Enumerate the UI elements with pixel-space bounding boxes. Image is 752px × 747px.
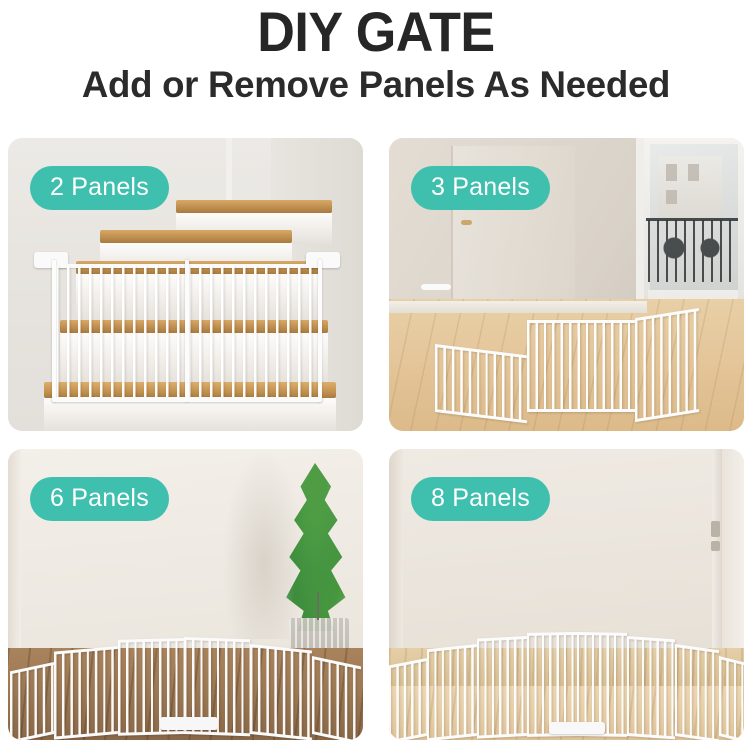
header: DIY GATE Add or Remove Panels As Needed [0, 0, 752, 108]
wrought-iron-balcony [648, 220, 736, 282]
gate-panel [10, 662, 54, 740]
safety-gate-2-panel [52, 260, 322, 402]
page-subtitle: Add or Remove Panels As Needed [4, 62, 748, 108]
door-hinge [711, 521, 720, 537]
gate-panel [312, 656, 361, 740]
panel-card-3[interactable]: 3 Panels [389, 138, 744, 431]
gate-panel [675, 644, 719, 740]
gate-panel [477, 636, 527, 739]
safety-gate-6-panel [10, 616, 361, 734]
cypress-plant [267, 457, 359, 637]
gate-latch [160, 717, 218, 730]
badge-panel-count: 6 Panels [30, 477, 169, 521]
safety-gate-8-panel [389, 610, 744, 736]
gate-bottom-rail [52, 397, 322, 402]
gate-panel [635, 308, 699, 422]
gate-panel [54, 646, 118, 740]
gate-panel [435, 344, 527, 423]
gate-post [185, 260, 189, 402]
gate-panel [427, 644, 477, 740]
panel-card-8[interactable]: 8 Panels [389, 449, 744, 740]
page-title: DIY GATE [26, 2, 725, 62]
badge-panel-count: 3 Panels [411, 166, 550, 210]
gate-post [318, 260, 322, 402]
infographic-page: DIY GATE Add or Remove Panels As Needed [0, 0, 752, 747]
panel-card-6[interactable]: 6 Panels [8, 449, 363, 740]
badge-panel-count: 8 Panels [411, 477, 550, 521]
gate-post [52, 260, 56, 402]
gate-panel [250, 644, 312, 740]
gate-panel [389, 658, 427, 740]
panel-configuration-grid: 2 Panels [8, 138, 744, 739]
gate-extension [421, 284, 451, 290]
gate-latch [549, 722, 605, 734]
badge-panel-count: 2 Panels [30, 166, 169, 210]
panel-card-2[interactable]: 2 Panels [8, 138, 363, 431]
gate-panel [627, 636, 675, 739]
gate-panel [527, 320, 635, 412]
door-hinge [711, 541, 720, 551]
gate-panel [719, 656, 744, 740]
safety-gate-3-panel [435, 290, 699, 412]
